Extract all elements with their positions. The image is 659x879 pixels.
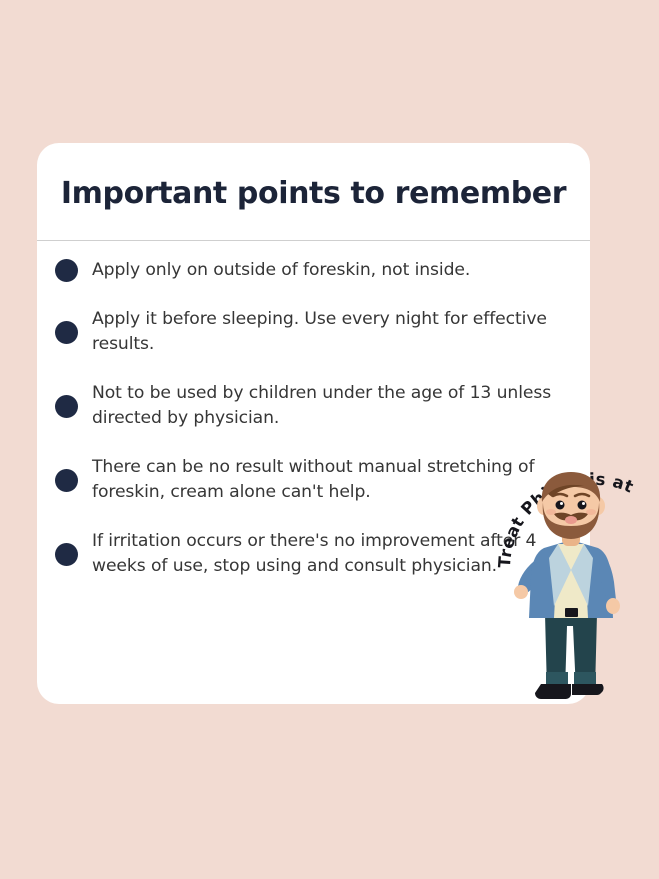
bearded-man-illustration bbox=[496, 466, 646, 736]
list-item: Apply only on outside of foreskin, not i… bbox=[37, 258, 590, 283]
list-item-text: Apply only on outside of foreskin, not i… bbox=[92, 258, 470, 283]
mouth bbox=[565, 516, 577, 524]
belt-buckle bbox=[565, 608, 578, 617]
list-item-text: Not to be used by children under the age… bbox=[92, 381, 580, 431]
eye-highlight-right bbox=[582, 502, 585, 505]
bullet-dot-icon bbox=[55, 395, 78, 418]
hand-left bbox=[514, 585, 528, 599]
title-divider bbox=[37, 240, 590, 241]
shoe-right bbox=[572, 684, 604, 695]
hand-right bbox=[606, 598, 620, 614]
shoe-left bbox=[535, 684, 571, 699]
cheek-right bbox=[586, 509, 596, 515]
bullet-dot-icon bbox=[55, 259, 78, 282]
eye-highlight-left bbox=[560, 502, 563, 505]
bullet-dot-icon bbox=[55, 543, 78, 566]
list-item-text: Apply it before sleeping. Use every nigh… bbox=[92, 307, 580, 357]
cheek-left bbox=[546, 509, 556, 515]
bullet-dot-icon bbox=[55, 469, 78, 492]
poster-canvas: Important points to remember Apply only … bbox=[0, 0, 659, 879]
bullet-dot-icon bbox=[55, 321, 78, 344]
trouser-cuff-right bbox=[574, 672, 596, 684]
eye-left bbox=[556, 501, 565, 510]
page-title: Important points to remember bbox=[37, 176, 590, 211]
eye-right bbox=[578, 501, 587, 510]
trouser-cuff-left bbox=[546, 672, 568, 684]
list-item: Apply it before sleeping. Use every nigh… bbox=[37, 307, 590, 357]
list-item: Not to be used by children under the age… bbox=[37, 381, 590, 431]
